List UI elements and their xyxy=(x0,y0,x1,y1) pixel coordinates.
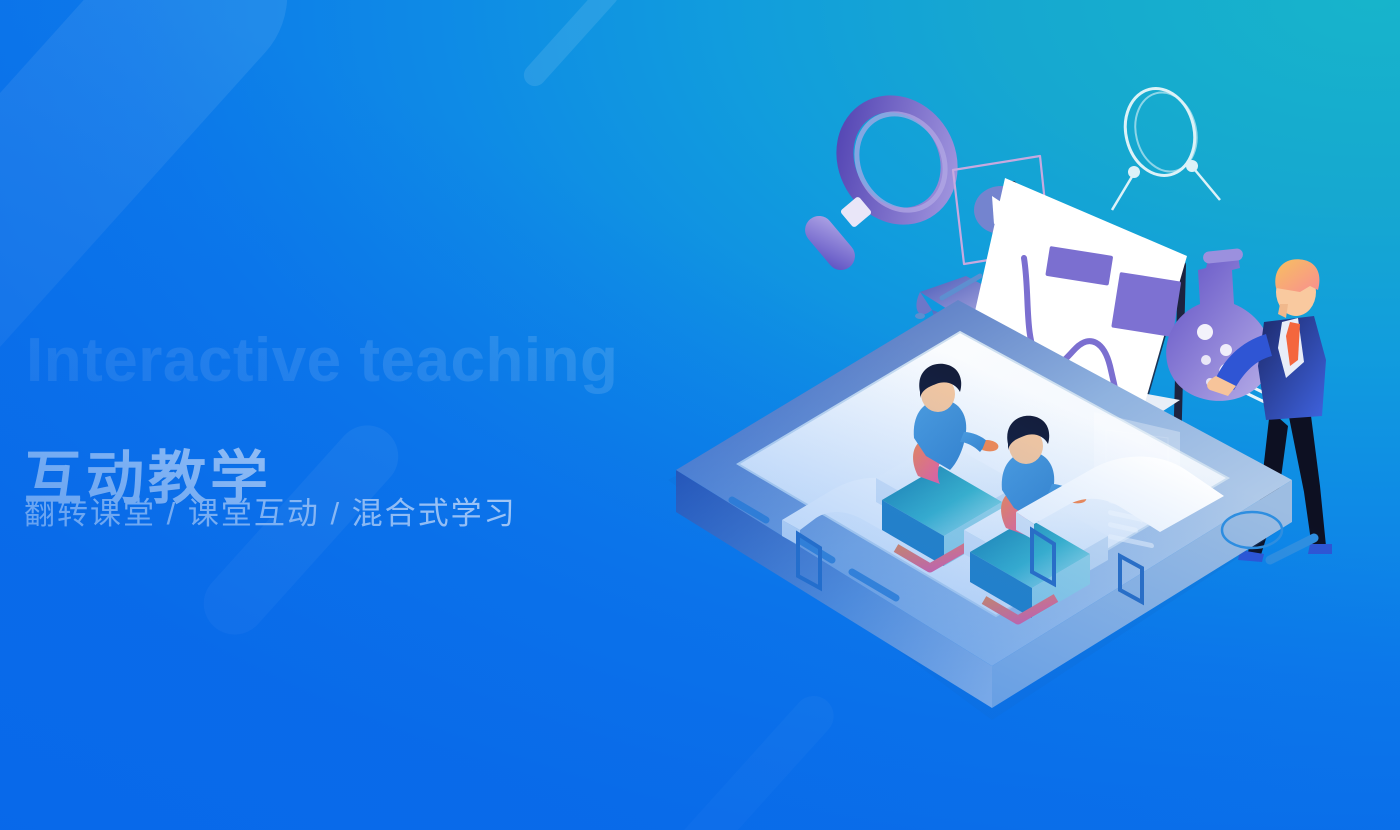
loop-diagram-icon xyxy=(1112,81,1220,210)
diagonal-bar-small xyxy=(519,0,622,91)
front-camera xyxy=(915,313,925,319)
hero-illustration xyxy=(620,60,1400,790)
magnifier-icon xyxy=(799,85,969,276)
ghost-title: Interactive teaching xyxy=(26,330,618,392)
hero-banner: Interactive teaching 互动教学 翻转课堂 / 课堂互动 / … xyxy=(0,0,1400,830)
page-subtitle: 翻转课堂 / 课堂互动 / 混合式学习 xyxy=(24,494,517,534)
